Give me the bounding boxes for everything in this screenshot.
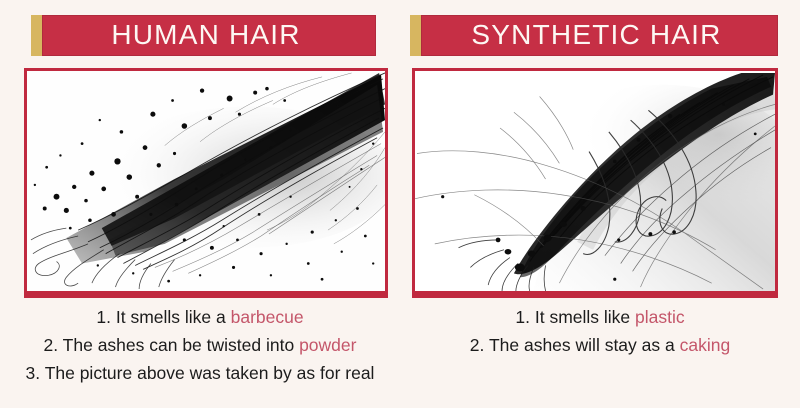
comparison-page: HUMAN HAIR [0,0,800,408]
column-synthetic-hair: SYNTHETIC HAIR [400,0,800,408]
photo-synthetic-hair [415,71,775,291]
caption-highlight: barbecue [231,307,304,327]
caption-number: 1. [96,307,111,327]
caption-line: 3. The picture above was taken by as for… [0,359,400,387]
caption-line: 2. The ashes will stay as a caking [400,331,800,359]
burnt-synthetic-hair-illustration [415,71,775,291]
caption-number: 1. [515,307,530,327]
banner-synthetic-hair: SYNTHETIC HAIR [410,15,778,56]
column-human-hair: HUMAN HAIR [0,0,400,408]
photo-human-hair [27,71,385,291]
caption-text: The ashes will stay as a [489,335,680,355]
burnt-human-hair-illustration [27,71,385,291]
banner-body: SYNTHETIC HAIR [421,15,778,56]
caption-text: The ashes can be twisted into [63,335,299,355]
caption-number: 3. [26,363,41,383]
captions-synthetic-hair: 1. It smells like plastic 2. The ashes w… [400,303,800,359]
caption-highlight: caking [680,335,731,355]
caption-line: 2. The ashes can be twisted into powder [0,331,400,359]
photo-frame-synthetic-hair [412,68,778,298]
caption-line: 1. It smells like a barbecue [0,303,400,331]
caption-highlight: plastic [635,307,685,327]
caption-highlight: powder [299,335,356,355]
caption-text: The picture above was taken by as for re… [45,363,375,383]
banner-body: HUMAN HAIR [42,15,376,56]
banner-human-hair: HUMAN HAIR [31,15,376,56]
captions-human-hair: 1. It smells like a barbecue 2. The ashe… [0,303,400,387]
banner-title-synthetic-hair: SYNTHETIC HAIR [471,21,727,51]
caption-line: 1. It smells like plastic [400,303,800,331]
caption-text: It smells like [535,307,635,327]
banner-title-human-hair: HUMAN HAIR [111,21,306,51]
caption-number: 2. [470,335,485,355]
banner-accent-bar-icon [410,15,421,56]
caption-number: 2. [44,335,59,355]
caption-text: It smells like a [116,307,231,327]
photo-frame-human-hair [24,68,388,298]
banner-accent-bar-icon [31,15,42,56]
